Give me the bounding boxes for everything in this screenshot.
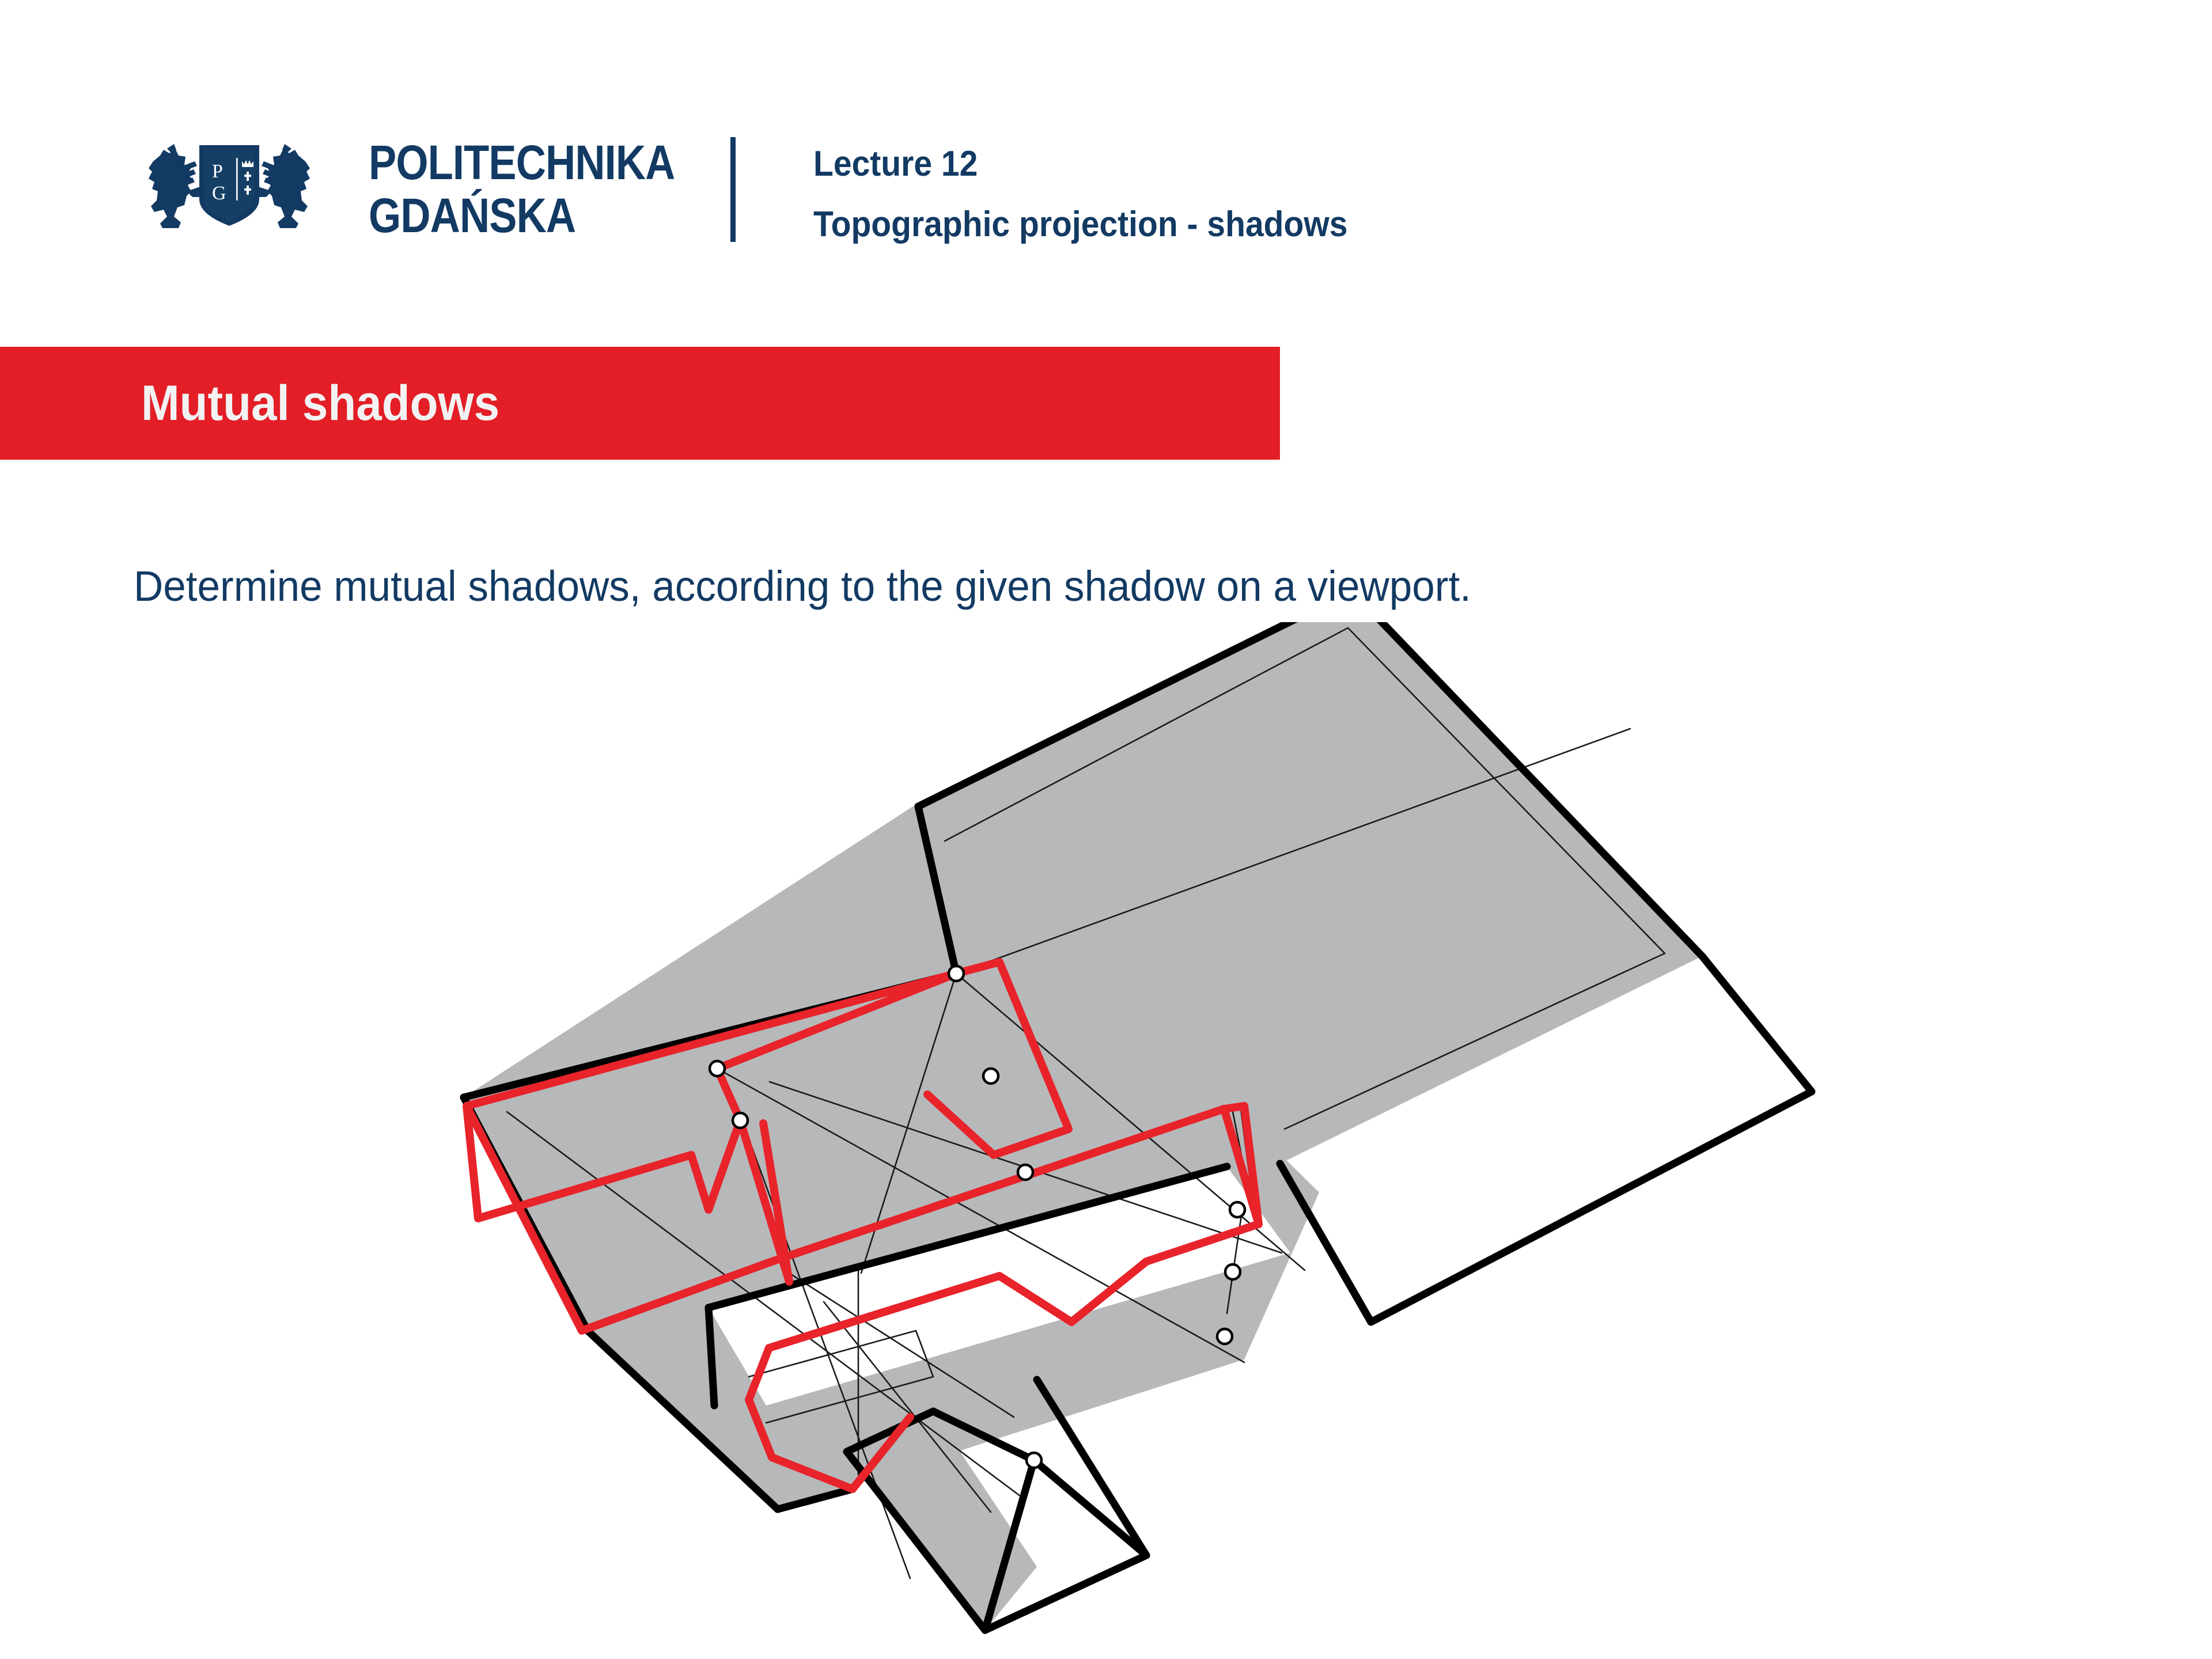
vertex-dormer-apex [1027,1453,1041,1468]
wordmark-line-gdanska: GDAŃSKA [369,189,636,242]
svg-text:G: G [212,183,226,204]
vertex-right-top [1230,1202,1245,1217]
svg-text:P: P [212,161,223,182]
header-lecture-block: Lecture 12 Topographic projection - shad… [813,134,2023,255]
lecture-topic-label: Topographic projection - shadows [813,194,1926,255]
vertex-mid-ray [983,1069,998,1084]
brand-wordmark: POLITECHNIKA GDAŃSKA [369,136,636,240]
dormer-inner-right [1034,1460,1146,1555]
wordmark-line-politechnika: POLITECHNIKA [369,136,636,189]
vertex-left-upper [710,1061,725,1076]
vertex-left-notch [733,1113,748,1128]
header-divider [730,137,736,242]
figure-canvas [0,622,2212,1636]
vertex-mid-lower [1018,1165,1033,1180]
pg-coat-of-arms-logo: P G [131,136,327,243]
mutual-shadows-figure [0,622,2212,1636]
section-title: Mutual shadows [141,376,499,431]
vertex-right-low [1217,1329,1232,1344]
figure-faces-layer [464,622,1812,1630]
slide-header: P G POLITECHNIKA GDAŃSKA Lecture 12 Topo… [0,0,2212,311]
instruction-text: Determine mutual shadows, according to t… [134,562,1959,611]
vertex-ridge-junction [949,966,964,981]
vertex-right-mid [1225,1264,1240,1279]
section-title-banner: Mutual shadows [0,347,1280,460]
lecture-number-label: Lecture 12 [813,134,1926,194]
